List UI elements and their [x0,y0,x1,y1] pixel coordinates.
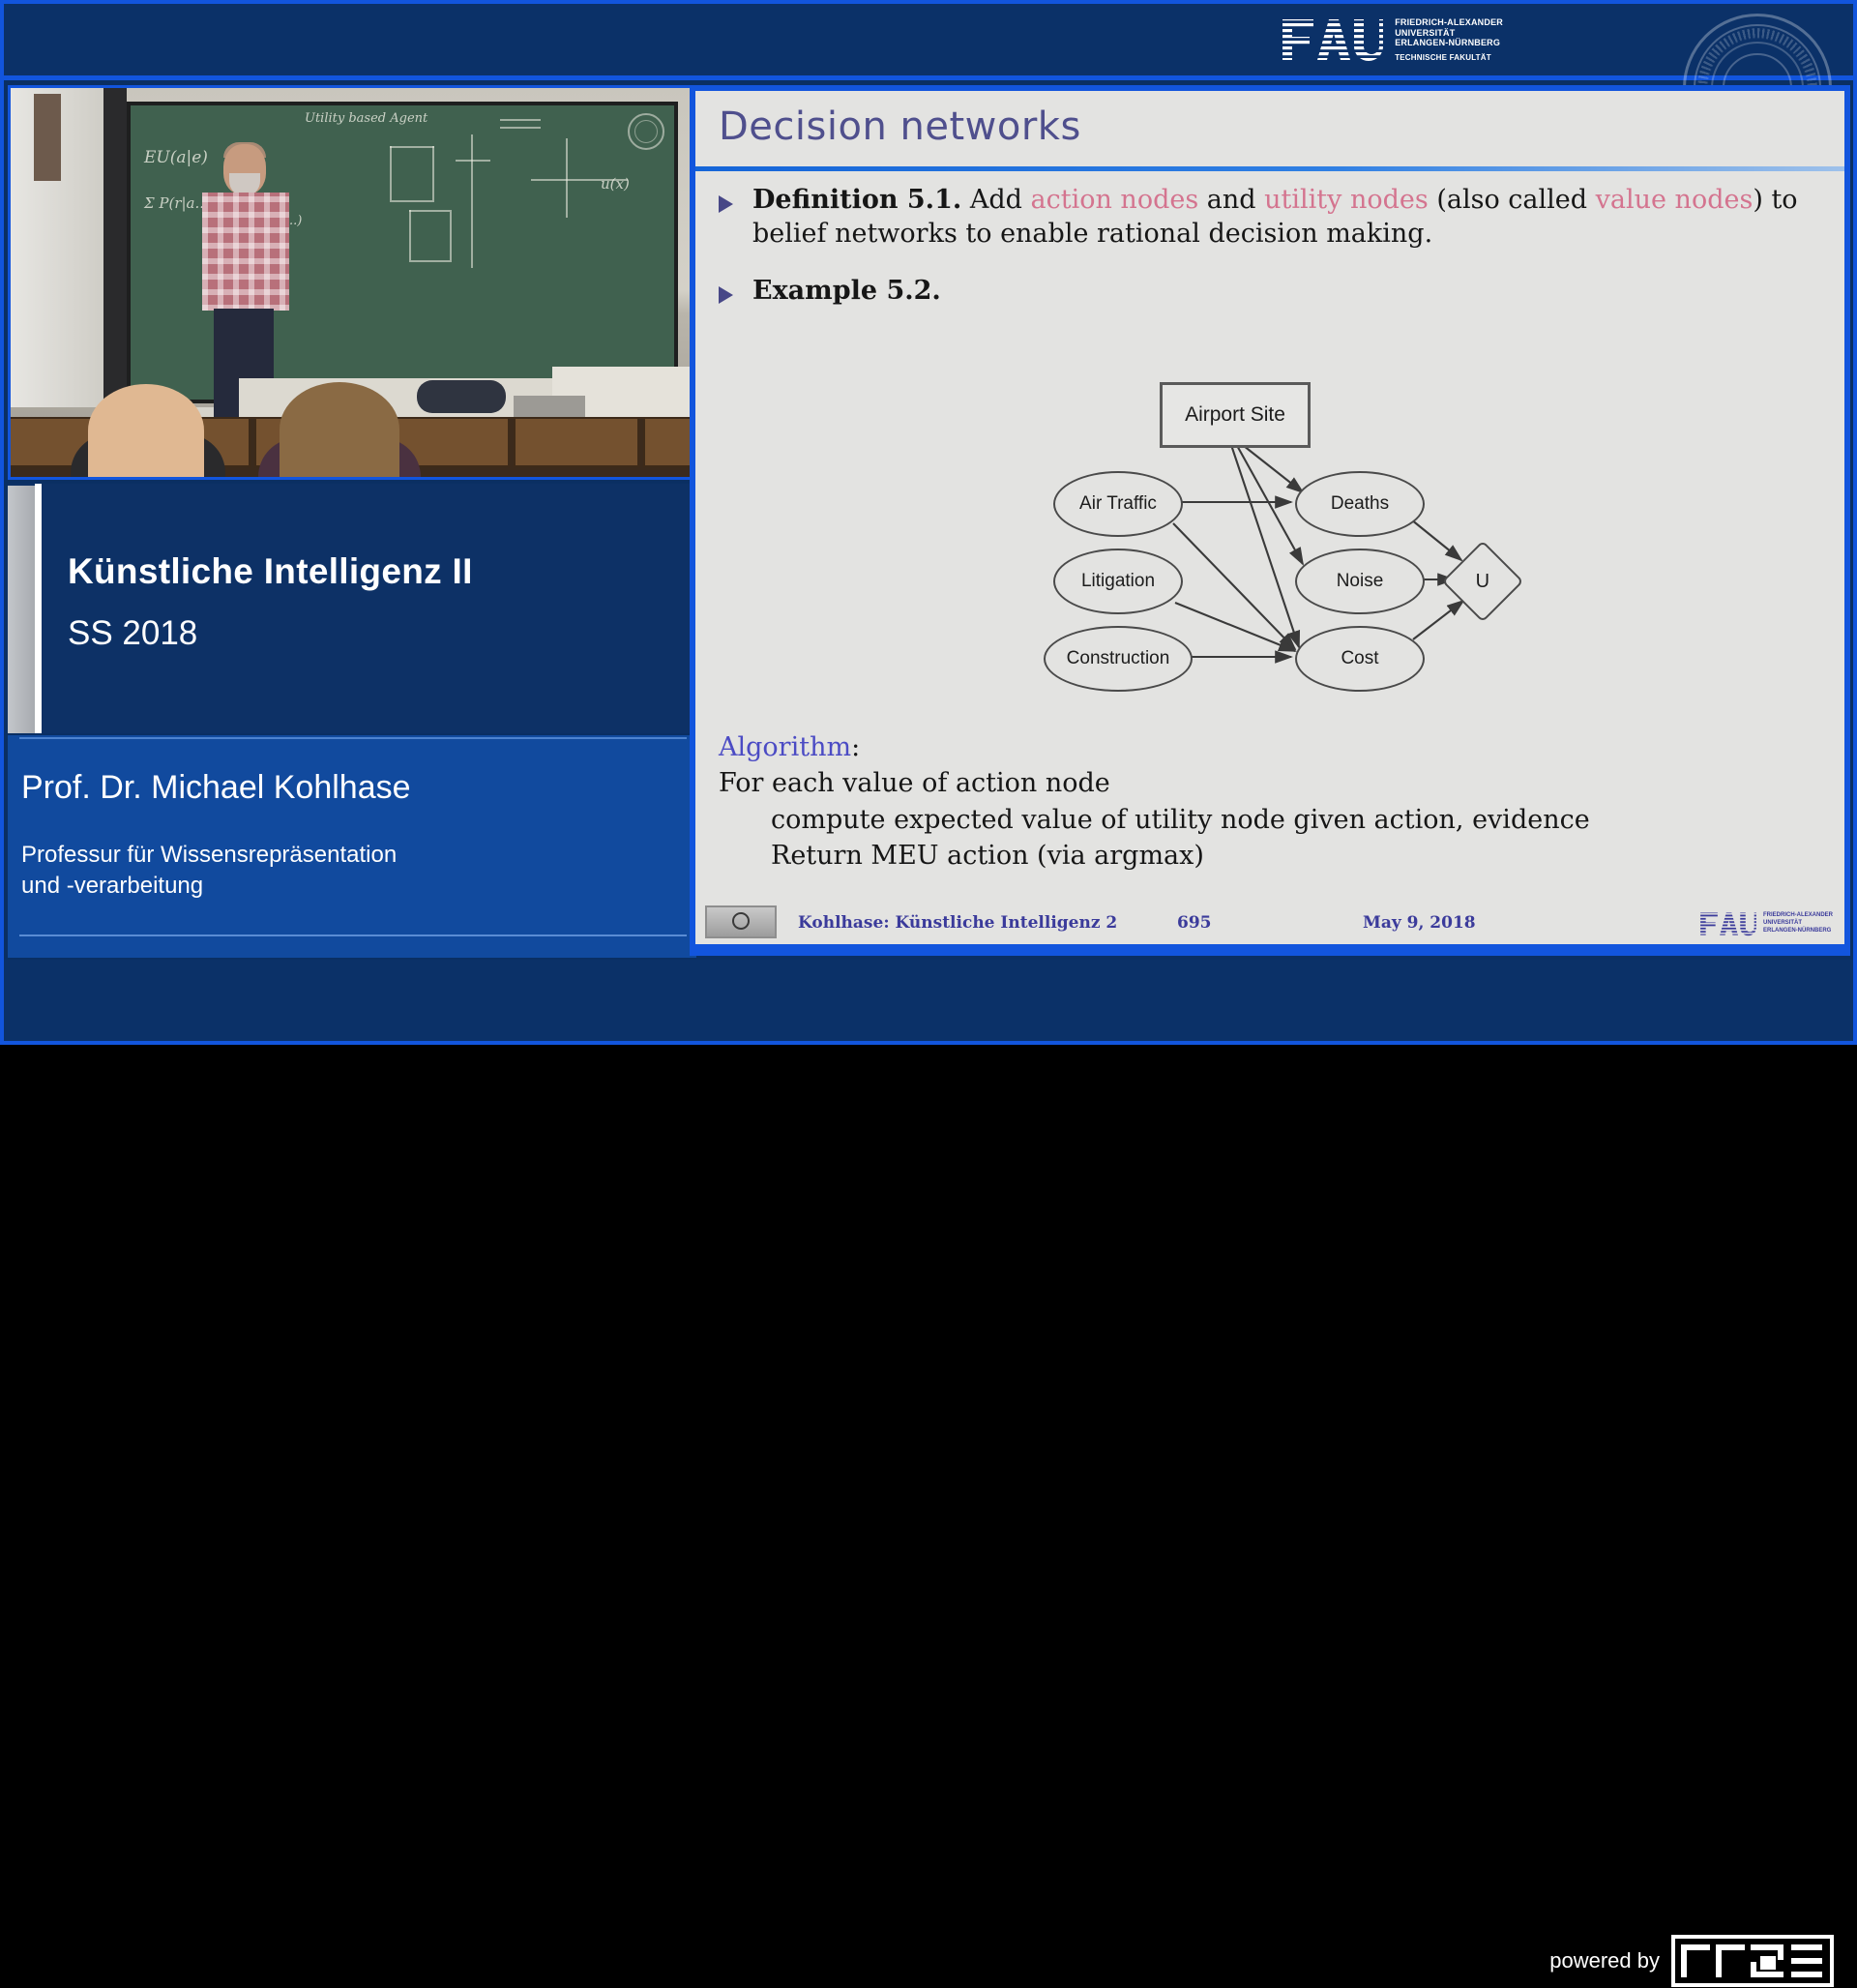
slide-header: Decision networks [695,91,1844,159]
definition-line-2: belief networks to enable rational decis… [752,219,1432,249]
fau-line-1: FRIEDRICH-ALEXANDER [1395,17,1503,27]
footer-fau-logo-text: FRIEDRICH-ALEXANDER UNIVERSITÄT ERLANGEN… [1763,912,1833,935]
footer-attribution: Kohlhase: Künstliche Intelligenz 2 [798,913,1117,933]
student-a-head [88,384,204,477]
course-title-panel [8,484,696,733]
algorithm-line-3: Return MEU action (via argmax) [719,838,1590,874]
definition-text-before: Add [961,185,1030,215]
decision-network-diagram: Airport Site Air Traffic Deaths Litigati… [1053,367,1537,725]
fau-line-3: ERLANGEN-NÜRNBERG [1395,38,1500,47]
algorithm-line-2: compute expected value of utility node g… [719,802,1590,838]
algorithm-colon: : [851,732,860,762]
fau-logo-text: FRIEDRICH-ALEXANDER UNIVERSITÄT ERLANGEN… [1395,17,1503,62]
node-airport-site: Airport Site [1160,382,1311,448]
fau-faculty: TECHNISCHE FAKULTÄT [1395,53,1503,62]
accent-white-bar [35,484,42,733]
definition-mid-1: and [1198,185,1264,215]
presenter-divider-top [19,737,687,739]
slide-bottom-rule [695,944,1844,950]
fau-logo-mark [1281,17,1385,62]
bullet-definition: Definition 5.1. Add action nodes and uti… [719,184,1812,251]
example-label-text: Example 5.2. [752,276,941,306]
node-cost: Cost [1295,626,1425,692]
header-underline [0,75,1857,80]
node-air-traffic: Air Traffic [1053,471,1183,537]
example-label: Example 5.2. [752,275,941,309]
footer-page-number: 695 [1177,913,1212,933]
footer-date: May 9, 2018 [1363,913,1476,933]
algorithm-heading: Algorithm [719,732,851,762]
footer-fau-logo: FRIEDRICH-ALEXANDER UNIVERSITÄT ERLANGEN… [1699,911,1833,936]
keyword-value-nodes: value nodes [1596,185,1754,215]
keyword-action-nodes: action nodes [1031,185,1199,215]
presenter-role-line-2: und -verarbeitung [21,873,203,899]
algorithm-block: Algorithm: For each value of action node… [719,729,1590,874]
powered-by-label: powered by [1549,1948,1660,1973]
bottom-bar: powered by [4,960,1853,1041]
definition-text: Definition 5.1. Add action nodes and uti… [752,184,1798,251]
node-deaths: Deaths [1295,471,1425,537]
fau-line-2: UNIVERSITÄT [1395,28,1455,38]
lecture-video[interactable]: Utility based Agent EU(a|e) Σ P(r|a..) .… [8,85,696,480]
lecturer-shirt [202,193,289,311]
student-b-head [280,382,399,477]
chalk-line-2: Σ P(r|a..) [144,194,210,212]
node-noise: Noise [1295,549,1425,614]
definition-label: Definition 5.1. [752,185,961,215]
backpack [417,380,506,413]
definition-text-after: ) to [1753,185,1797,215]
rrze-logo-icon [1671,1935,1834,1987]
slide-title: Decision networks [719,104,1081,149]
keyword-utility-nodes: utility nodes [1264,185,1429,215]
fau-logo: FRIEDRICH-ALEXANDER UNIVERSITÄT ERLANGEN… [1281,17,1503,62]
slide-title-rule [695,166,1844,171]
creative-commons-badge-icon [705,905,777,938]
presenter-divider-bottom [19,935,687,936]
presenter-role-line-1: Professur für Wissensrepräsentation [21,842,397,868]
video-wall-panel [34,94,61,181]
definition-mid-2: (also called [1429,185,1596,215]
application-window: FRIEDRICH-ALEXANDER UNIVERSITÄT ERLANGEN… [0,0,1857,1045]
bullet-triangle-icon [719,195,733,213]
accent-gray-bar [8,486,35,733]
chalk-heading: Utility based Agent [305,111,427,126]
node-litigation: Litigation [1053,549,1183,614]
chalkboard-seal-icon [628,113,664,150]
node-construction: Construction [1044,626,1193,692]
video-pillar [103,88,127,417]
presenter-role: Professur für Wissensrepräsentation und … [21,840,397,902]
slide-footer: Kohlhase: Künstliche Intelligenz 2 695 M… [695,902,1844,936]
footer-fau-logo-mark [1699,911,1757,936]
course-title: Künstliche Intelligenz II [68,551,473,592]
presenter-name: Prof. Dr. Michael Kohlhase [21,769,411,807]
bullet-example: Example 5.2. [719,275,941,309]
header-bar: FRIEDRICH-ALEXANDER UNIVERSITÄT ERLANGEN… [4,4,1853,79]
course-term: SS 2018 [68,614,197,653]
slide-viewer[interactable]: Decision networks Definition 5.1. Add ac… [690,85,1850,956]
bullet-triangle-icon [719,286,733,304]
algorithm-line-1: For each value of action node [719,768,1110,798]
chalk-line-1: EU(a|e) [144,148,208,167]
